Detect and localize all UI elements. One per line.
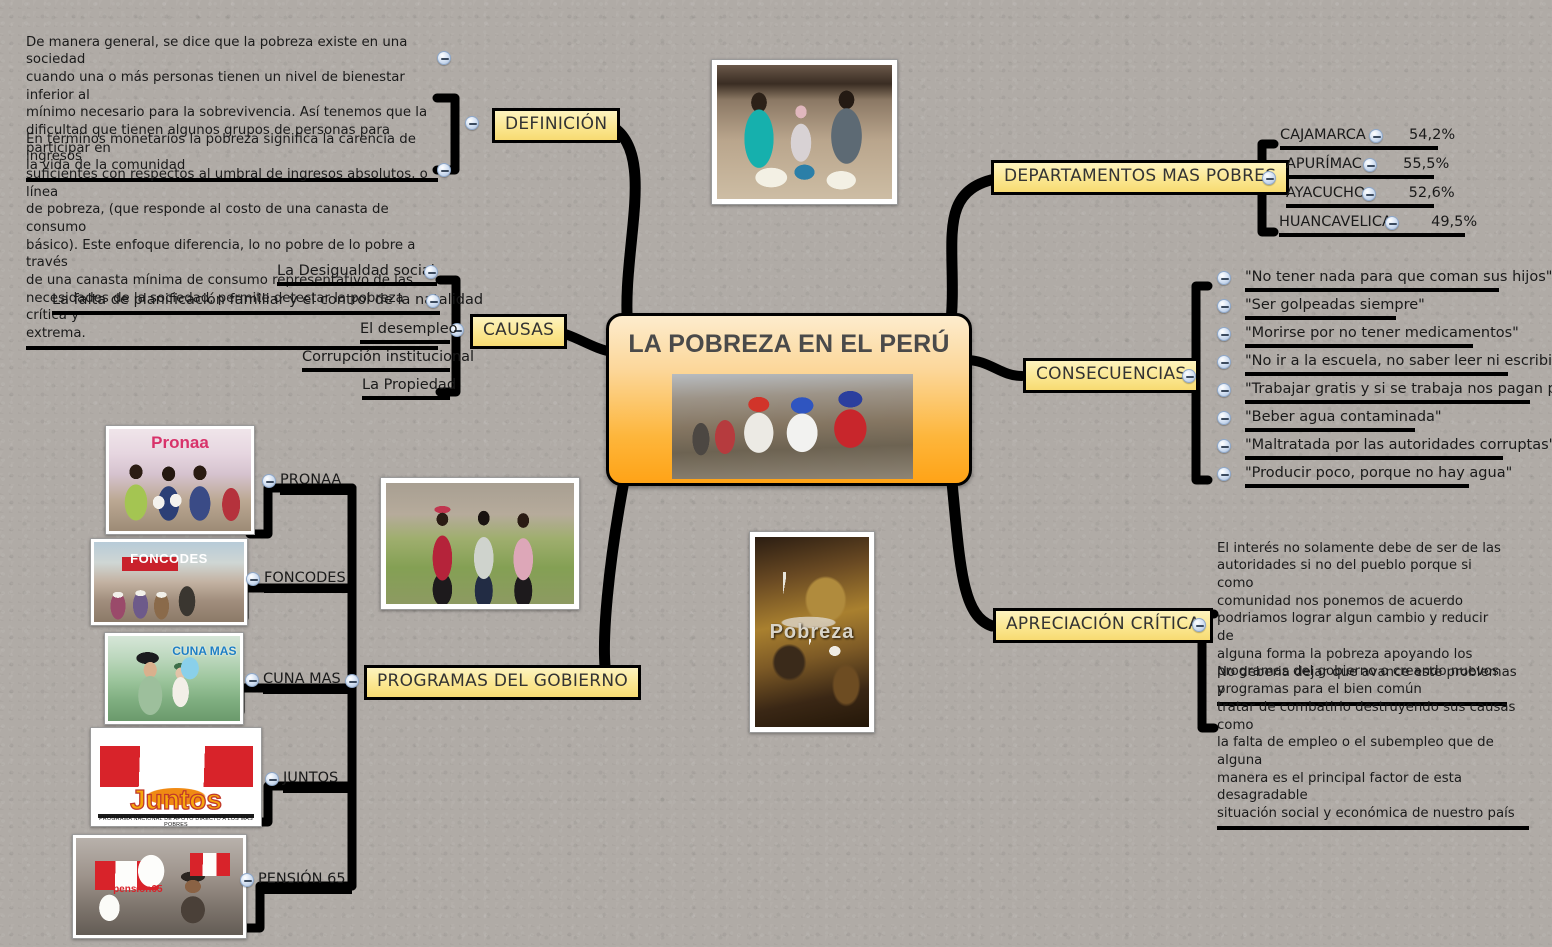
causas-item-1-underline — [52, 311, 440, 315]
consecuencia-7-underline — [1245, 484, 1469, 488]
consecuencia-item-2: "Morirse por no tener medicamentos" — [1245, 325, 1519, 348]
collapse-icon-causas-1[interactable] — [426, 294, 440, 308]
three-andean-girls-photo — [380, 477, 580, 610]
consecuencia-item-6: "Maltratada por las autoridades corrupta… — [1245, 437, 1552, 460]
topic-departamentos[interactable]: DEPARTAMENTOS MAS POBRES — [991, 160, 1289, 195]
departamento-row-3: HUANCAVELICA 49,5% — [1279, 214, 1477, 237]
collapse-icon-consecuencia-5[interactable] — [1217, 411, 1231, 425]
causas-item-1-label: La falta de planificación familiar y el … — [52, 292, 483, 308]
programa-3-label: JUNTOS — [283, 770, 338, 786]
programa-0-underline — [280, 491, 352, 495]
collapse-icon-programa-3[interactable] — [265, 772, 279, 786]
consecuencia-3-label: "No ir a la escuela, no saber leer ni es… — [1245, 353, 1552, 369]
programa-1-label: FONCODES — [264, 570, 346, 586]
consecuencia-2-label: "Morirse por no tener medicamentos" — [1245, 325, 1519, 341]
consecuencia-6-label: "Maltratada por las autoridades corrupta… — [1245, 437, 1552, 453]
collapse-icon-consecuencias[interactable] — [1182, 369, 1196, 383]
topic-apreciacion-label: APRECIACIÓN CRÍTICA — [1006, 614, 1200, 634]
consecuencia-item-5: "Beber agua contaminada" — [1245, 409, 1442, 432]
consecuencia-3-underline — [1245, 372, 1508, 376]
departamento-1-value: 55,5% — [1403, 156, 1449, 172]
causas-item-4-underline — [362, 396, 450, 400]
collapse-icon-consecuencia-2[interactable] — [1217, 327, 1231, 341]
collapse-icon-definicion[interactable] — [465, 116, 479, 130]
central-topic-title: LA POBREZA EN EL PERÚ — [609, 316, 969, 359]
consecuencia-item-1: "Ser golpeadas siempre" — [1245, 297, 1425, 320]
central-topic[interactable]: LA POBREZA EN EL PERÚ — [606, 313, 972, 486]
causas-item-1: La falta de planificación familiar y el … — [52, 292, 483, 315]
collapse-icon-departamento-0[interactable] — [1369, 129, 1383, 143]
causas-item-4-label: La Propiedad — [362, 377, 456, 393]
children-eating-photo — [711, 59, 898, 205]
programa-3-underline — [283, 789, 352, 793]
departamento-2-name: AYACUCHO — [1286, 185, 1365, 201]
causas-item-4: La Propiedad — [362, 377, 456, 400]
juntos-logo: Juntos PROGRAMA NACIONAL DE APOYO DIRECT… — [90, 727, 262, 827]
topic-apreciacion[interactable]: APRECIACIÓN CRÍTICA — [993, 608, 1213, 643]
departamento-2-underline — [1286, 204, 1434, 208]
programa-item-2: CUNA MAS — [263, 671, 352, 694]
collapse-icon-consecuencia-3[interactable] — [1217, 355, 1231, 369]
consecuencia-item-3: "No ir a la escuela, no saber leer ni es… — [1245, 353, 1552, 376]
departamento-0-underline — [1280, 146, 1438, 150]
cuna-mas-photo: CUNA MAS — [104, 632, 244, 725]
collapse-icon-consecuencia-0[interactable] — [1217, 271, 1231, 285]
topic-definicion-label: DEFINICIÓN — [505, 114, 607, 134]
topic-programas[interactable]: PROGRAMAS DEL GOBIERNO — [364, 665, 641, 700]
programa-4-underline — [258, 890, 352, 894]
collapse-icon-programa-1[interactable] — [246, 572, 260, 586]
departamento-0-name: CAJAMARCA — [1280, 127, 1366, 143]
consecuencia-item-4: "Trabajar gratis y si se trabaja nos pag… — [1245, 381, 1552, 404]
apreciacion-note-2-text: No deberia dejar que avance este problem… — [1217, 665, 1517, 821]
consecuencia-5-label: "Beber agua contaminada" — [1245, 409, 1442, 425]
branch-to-departamentos — [950, 178, 1000, 332]
causas-item-0-underline — [277, 282, 437, 286]
topic-causas[interactable]: CAUSAS — [470, 314, 567, 349]
consecuencia-0-underline — [1245, 288, 1499, 292]
collapse-icon-consecuencia-4[interactable] — [1217, 383, 1231, 397]
causas-item-3: Corrupción institucional — [302, 349, 474, 372]
branch-to-consecuencias — [966, 360, 1022, 376]
causas-item-2-underline — [360, 340, 450, 344]
programa-item-0: PRONAA — [280, 472, 352, 495]
programa-item-4: PENSIÓN 65 — [258, 871, 352, 894]
collapse-icon-definicion-note-2[interactable] — [437, 163, 451, 177]
topic-definicion[interactable]: DEFINICIÓN — [492, 108, 620, 143]
topic-programas-label: PROGRAMAS DEL GOBIERNO — [377, 671, 628, 691]
collapse-icon-programa-4[interactable] — [240, 873, 254, 887]
definicion-bracket — [437, 98, 455, 170]
collapse-icon-consecuencia-7[interactable] — [1217, 467, 1231, 481]
collapse-icon-programa-2[interactable] — [245, 673, 259, 687]
central-topic-image — [672, 374, 913, 479]
foncodes-photo: FONCODES — [90, 538, 248, 626]
topic-consecuencias[interactable]: CONSECUENCIAS — [1023, 358, 1199, 393]
topic-causas-label: CAUSAS — [483, 320, 554, 340]
causas-item-3-underline — [302, 368, 450, 372]
programa-item-3: JUNTOS — [283, 770, 352, 793]
programa-0-label: PRONAA — [280, 472, 341, 488]
causas-item-0-label: La Desigualdad social — [277, 263, 435, 279]
causas-item-2-label: El desempleo — [360, 321, 458, 337]
consecuencia-1-label: "Ser golpeadas siempre" — [1245, 297, 1425, 313]
departamento-1-name: APURÍMAC — [1286, 156, 1362, 172]
consecuencia-0-label: "No tener nada para que coman sus hijos" — [1245, 269, 1552, 285]
apreciacion-note-2: No deberia dejar que avance este problem… — [1217, 646, 1527, 847]
branch-to-programas — [605, 460, 628, 680]
apreciacion-note-2-underline — [1217, 826, 1529, 830]
consecuencia-6-underline — [1245, 456, 1503, 460]
consecuencia-item-7: "Producir poco, porque no hay agua" — [1245, 465, 1512, 488]
consecuencia-item-0: "No tener nada para que coman sus hijos" — [1245, 269, 1552, 292]
pension-65-photo: pensión65 — [72, 834, 247, 939]
collapse-icon-apreciacion[interactable] — [1192, 618, 1206, 632]
collapse-icon-consecuencia-1[interactable] — [1217, 299, 1231, 313]
departamento-0-value: 54,2% — [1409, 127, 1455, 143]
programa-1-underline — [264, 589, 352, 593]
departamento-row-0: CAJAMARCA 54,2% — [1280, 127, 1455, 150]
consecuencia-2-underline — [1245, 344, 1473, 348]
collapse-icon-departamentos[interactable] — [1262, 171, 1276, 185]
collapse-icon-definicion-note-1[interactable] — [437, 51, 451, 65]
programa-4-label: PENSIÓN 65 — [258, 871, 346, 887]
collapse-icon-causas-0[interactable] — [424, 265, 438, 279]
programa-2-underline — [263, 690, 352, 694]
causas-item-0: La Desigualdad social — [277, 263, 437, 286]
pronaa-photo: Pronaa — [105, 425, 255, 535]
topic-consecuencias-label: CONSECUENCIAS — [1036, 364, 1186, 384]
consecuencia-7-label: "Producir poco, porque no hay agua" — [1245, 465, 1512, 481]
collapse-icon-departamento-2[interactable] — [1362, 187, 1376, 201]
departamento-3-underline — [1279, 233, 1465, 237]
mindmap-canvas: LA POBREZA EN EL PERÚ Pobreza Pronaa FON… — [0, 0, 1552, 947]
departamento-3-name: HUANCAVELICA — [1279, 214, 1392, 230]
consecuencia-4-label: "Trabajar gratis y si se trabaja nos pag… — [1245, 381, 1552, 397]
topic-departamentos-label: DEPARTAMENTOS MAS POBRES — [1004, 166, 1276, 186]
branch-to-definicion — [608, 124, 635, 330]
programa-item-1: FONCODES — [264, 570, 352, 593]
consecuencia-4-underline — [1245, 400, 1530, 404]
programa-2-label: CUNA MAS — [263, 671, 341, 687]
collapse-icon-departamento-3[interactable] — [1385, 216, 1399, 230]
departamento-3-value: 49,5% — [1431, 214, 1477, 230]
branch-to-apreciacion — [950, 462, 992, 626]
causas-item-2: El desempleo — [360, 321, 458, 344]
causas-item-3-label: Corrupción institucional — [302, 349, 474, 365]
collapse-icon-programa-0[interactable] — [262, 474, 276, 488]
consecuencia-5-underline — [1245, 428, 1415, 432]
pobreza-rust-photo: Pobreza — [749, 531, 875, 733]
departamento-2-value: 52,6% — [1409, 185, 1455, 201]
collapse-icon-consecuencia-6[interactable] — [1217, 439, 1231, 453]
collapse-icon-departamento-1[interactable] — [1363, 158, 1377, 172]
departamento-1-underline — [1286, 175, 1434, 179]
consecuencia-1-underline — [1245, 316, 1396, 320]
